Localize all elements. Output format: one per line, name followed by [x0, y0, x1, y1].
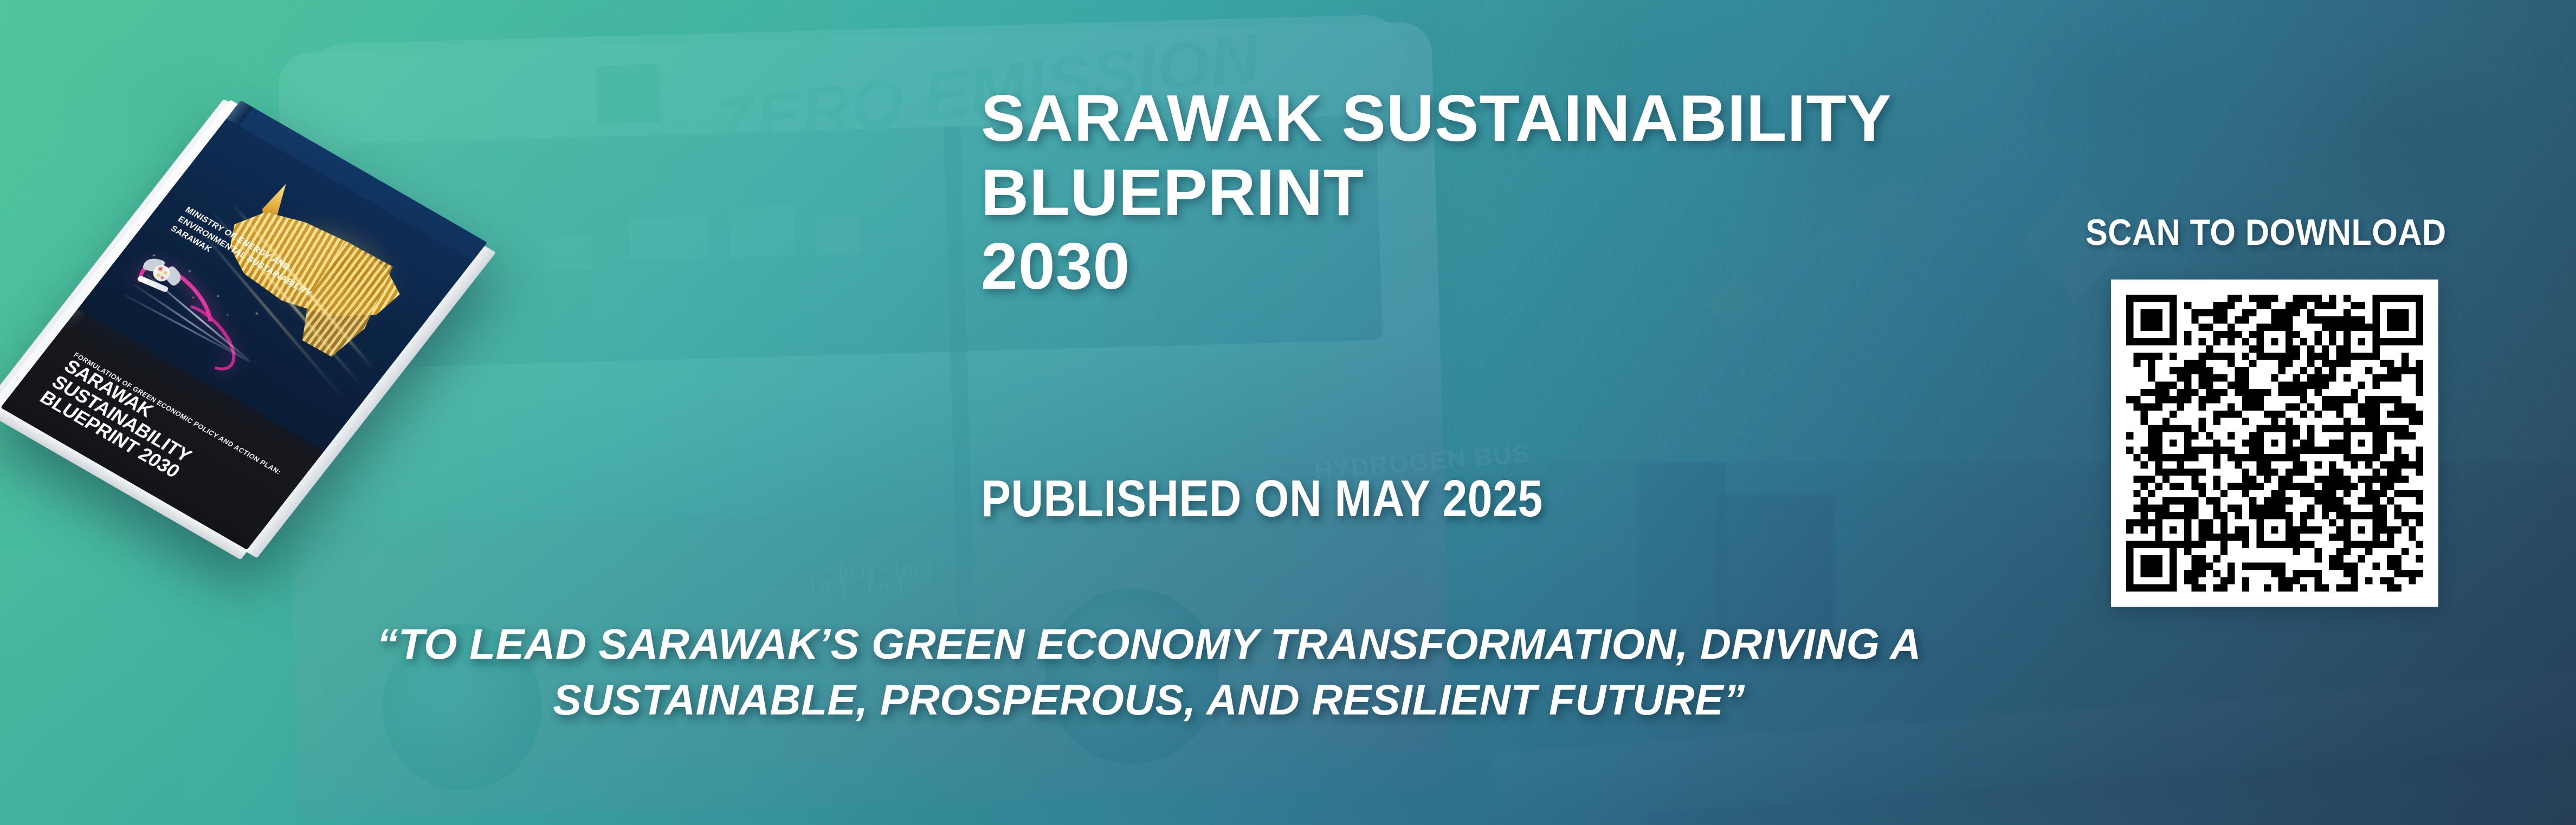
- vision-quote: “TO LEAD SARAWAK’S GREEN ECONOMY TRANSFO…: [0, 616, 2298, 727]
- promotional-banner: O H₂O H O₂ ZERO EMISSION HYDROGEN BUS: [0, 0, 2576, 825]
- book-mockup: MINISTRY OF ENERGY AND ENVIRONMENTAL SUS…: [22, 60, 607, 645]
- banner-headline: SARAWAK SUSTAINABILITY BLUEPRINT 2030: [981, 81, 2065, 303]
- headline-line-1: SARAWAK SUSTAINABILITY BLUEPRINT: [981, 81, 2065, 229]
- published-date: PUBLISHED ON MAY 2025: [981, 469, 1543, 529]
- headline-line-2: 2030: [981, 229, 2065, 303]
- quote-line-1: “TO LEAD SARAWAK’S GREEN ECONOMY TRANSFO…: [0, 616, 2298, 672]
- qr-code-panel[interactable]: [2111, 280, 2438, 607]
- qr-code-image[interactable]: [2126, 295, 2423, 592]
- scan-to-download-label: SCAN TO DOWNLOAD: [2086, 211, 2446, 254]
- quote-line-2: SUSTAINABLE, PROSPEROUS, AND RESILIENT F…: [0, 672, 2298, 728]
- book-front-cover: MINISTRY OF ENERGY AND ENVIRONMENTAL SUS…: [1, 100, 487, 550]
